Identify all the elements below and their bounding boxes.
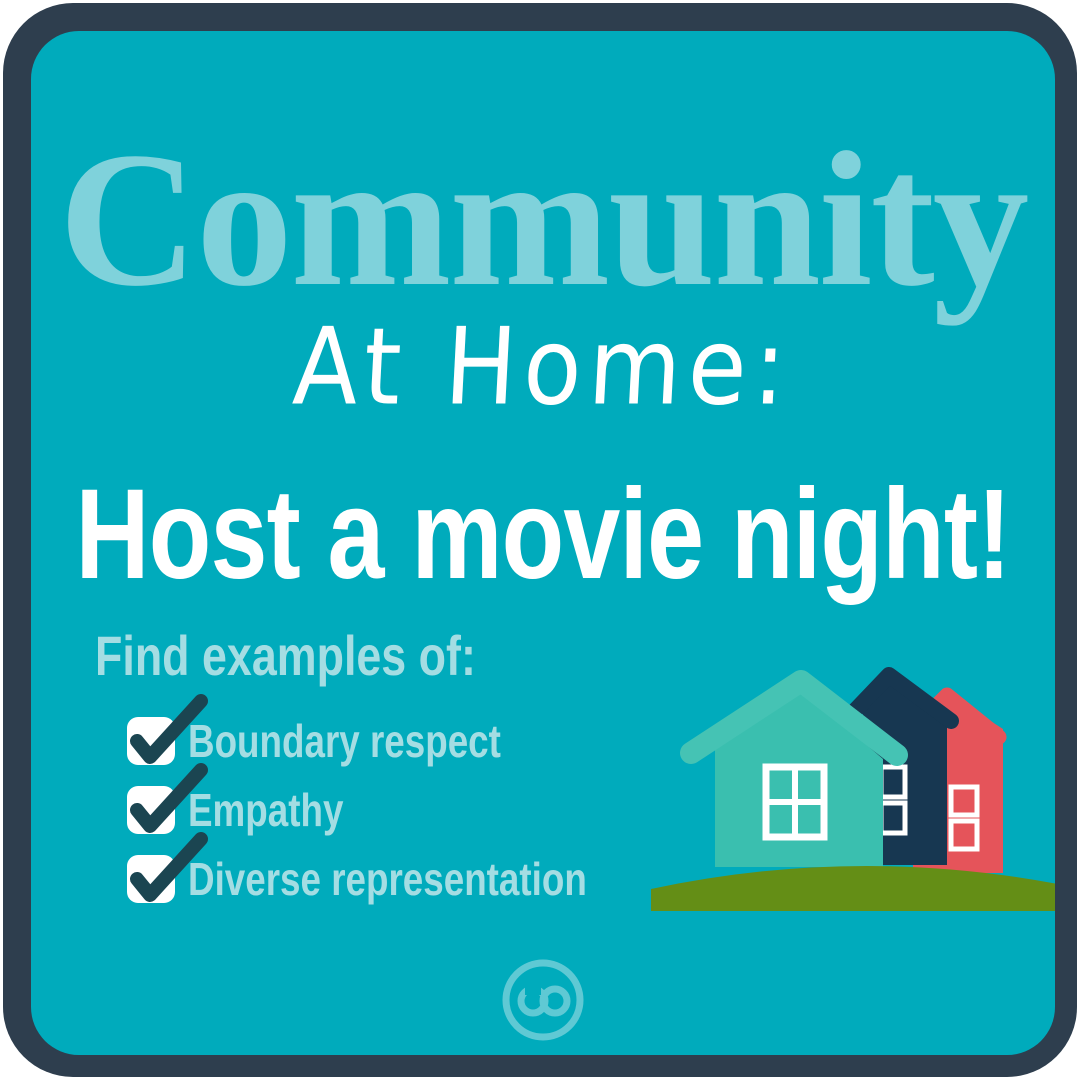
subtitle-at-home: At Home: bbox=[31, 313, 1055, 425]
list-item-label: Diverse representation bbox=[188, 852, 587, 906]
checklist-label: Find examples of: bbox=[95, 623, 476, 688]
headline: Host a movie night! bbox=[76, 471, 1011, 599]
checkbox-checked[interactable] bbox=[127, 786, 175, 834]
brand-logo bbox=[499, 956, 587, 1049]
list-item-label: Empathy bbox=[188, 783, 343, 837]
checkbox-checked[interactable] bbox=[127, 855, 175, 903]
page-title: Community bbox=[31, 123, 1055, 316]
checkbox-checked[interactable] bbox=[127, 717, 175, 765]
poster-frame: Community At Home: Host a movie night! F… bbox=[3, 3, 1077, 1077]
logo-c-gap bbox=[525, 985, 541, 995]
list-item-label: Boundary respect bbox=[188, 714, 501, 768]
poster-canvas: Community At Home: Host a movie night! F… bbox=[0, 0, 1080, 1080]
poster-card: Community At Home: Host a movie night! F… bbox=[31, 31, 1055, 1055]
houses-illustration bbox=[651, 659, 1055, 911]
